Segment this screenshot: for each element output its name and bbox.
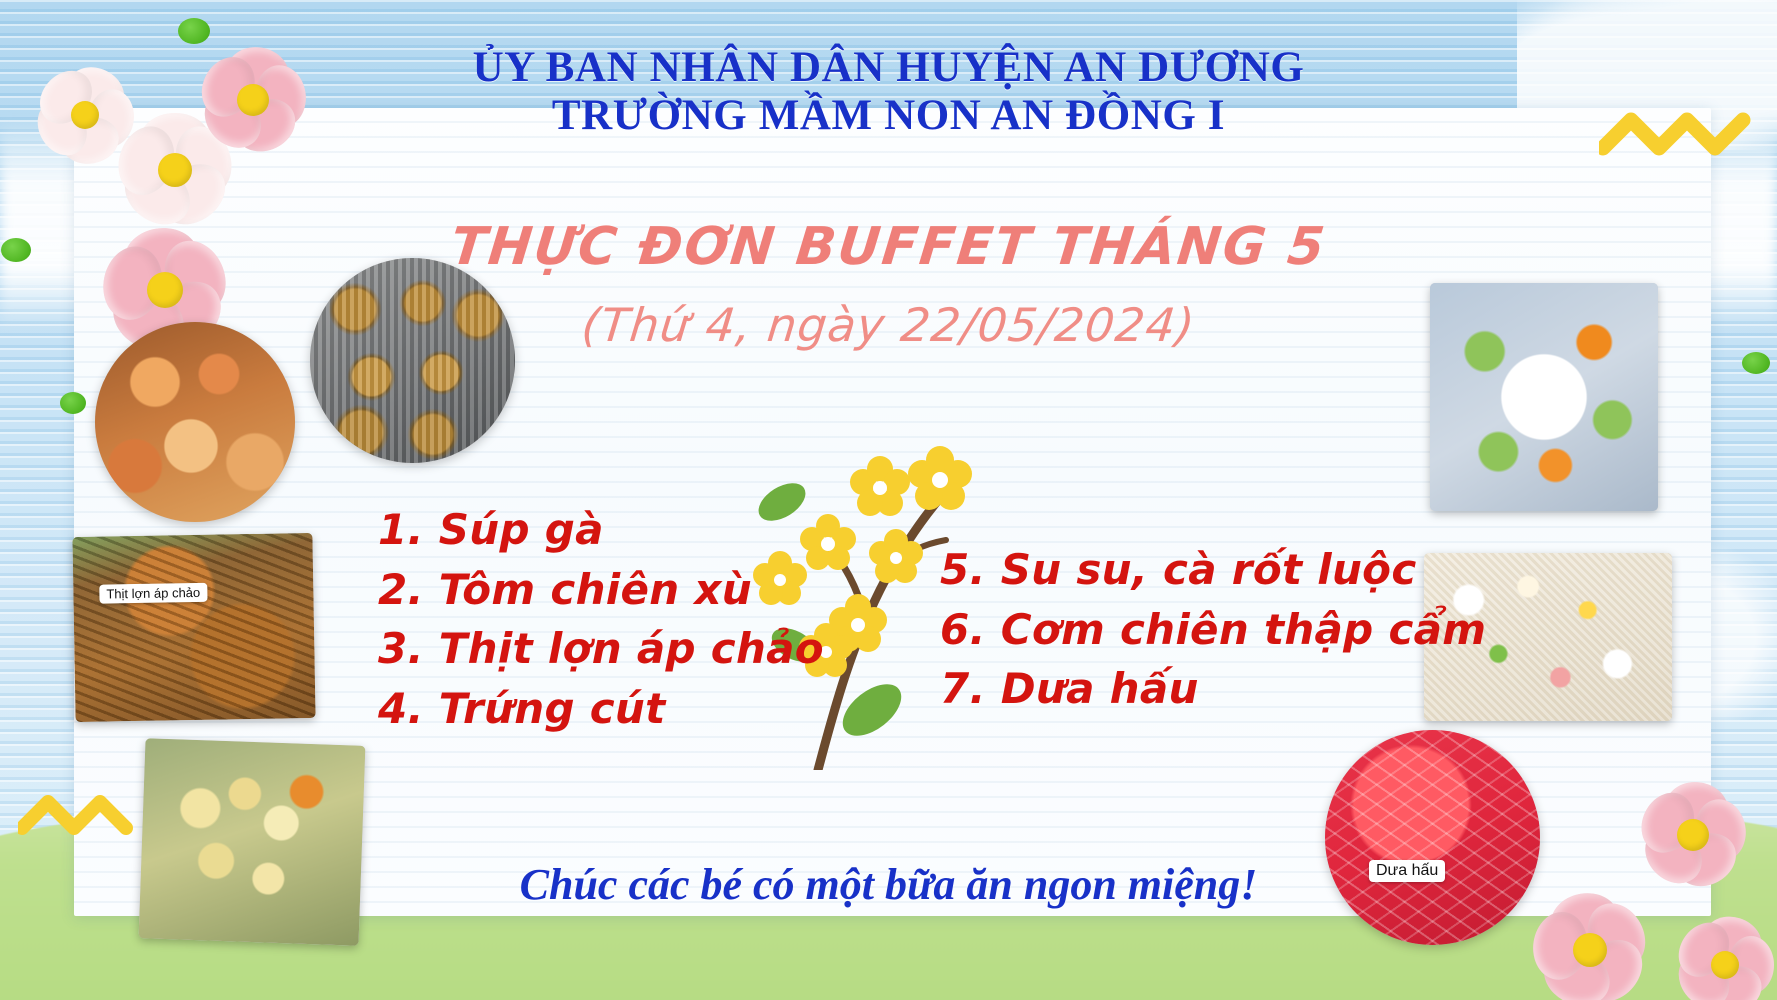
zigzag-ribbon-bottom-left-icon	[18, 790, 148, 848]
photo-quail-egg-cups	[310, 258, 515, 463]
organization-line-1: ỦY BAN NHÂN DÂN HUYỆN AN DƯƠNG	[0, 44, 1777, 92]
photo-watermelon-image	[1325, 730, 1540, 945]
photo-quail-egg-skewers-image	[139, 738, 366, 946]
photo-quail-egg-skewers	[139, 738, 366, 946]
menu-poster: Thịt lợn áp chảo Dưa hấu	[0, 0, 1777, 1000]
menu-list-right: 5. Su su, cà rốt luộc 6. Cơm chiên thập …	[940, 540, 1486, 719]
menu-item: 4. Trứng cút	[378, 679, 824, 739]
photo-pan-fried-pork-image	[72, 533, 315, 722]
photo-shrimp-image	[95, 322, 295, 522]
menu-item: 3. Thịt lợn áp chảo	[378, 619, 824, 679]
green-dot-icon	[1742, 352, 1770, 374]
menu-item: 1. Súp gà	[378, 500, 824, 560]
menu-list-left: 1. Súp gà 2. Tôm chiên xù 3. Thịt lợn áp…	[378, 500, 824, 739]
menu-item: 5. Su su, cà rốt luộc	[940, 540, 1486, 600]
page-subtitle: (Thứ 4, ngày 22/05/2024)	[0, 298, 1777, 352]
photo-quail-egg-cups-image	[310, 258, 515, 463]
organization-header: ỦY BAN NHÂN DÂN HUYỆN AN DƯƠNG TRƯỜNG MẦ…	[0, 44, 1777, 140]
page-title: THỰC ĐƠN BUFFET THÁNG 5	[0, 218, 1777, 276]
organization-line-2: TRƯỜNG MẦM NON AN ĐỒNG I	[0, 92, 1777, 140]
photo-pan-fried-pork: Thịt lợn áp chảo	[72, 533, 315, 722]
photo-watermelon: Dưa hấu	[1325, 730, 1540, 945]
green-dot-icon	[60, 392, 86, 414]
photo-shrimp	[95, 322, 295, 522]
photo-pan-fried-pork-caption: Thịt lợn áp chảo	[99, 583, 207, 604]
menu-item: 6. Cơm chiên thập cẩm	[940, 600, 1486, 660]
closing-wish: Chúc các bé có một bữa ăn ngon miệng!	[0, 859, 1777, 910]
menu-item: 2. Tôm chiên xù	[378, 560, 824, 620]
menu-item: 7. Dưa hấu	[940, 659, 1486, 719]
flower-icon	[1665, 905, 1777, 1000]
green-dot-icon	[178, 18, 210, 44]
